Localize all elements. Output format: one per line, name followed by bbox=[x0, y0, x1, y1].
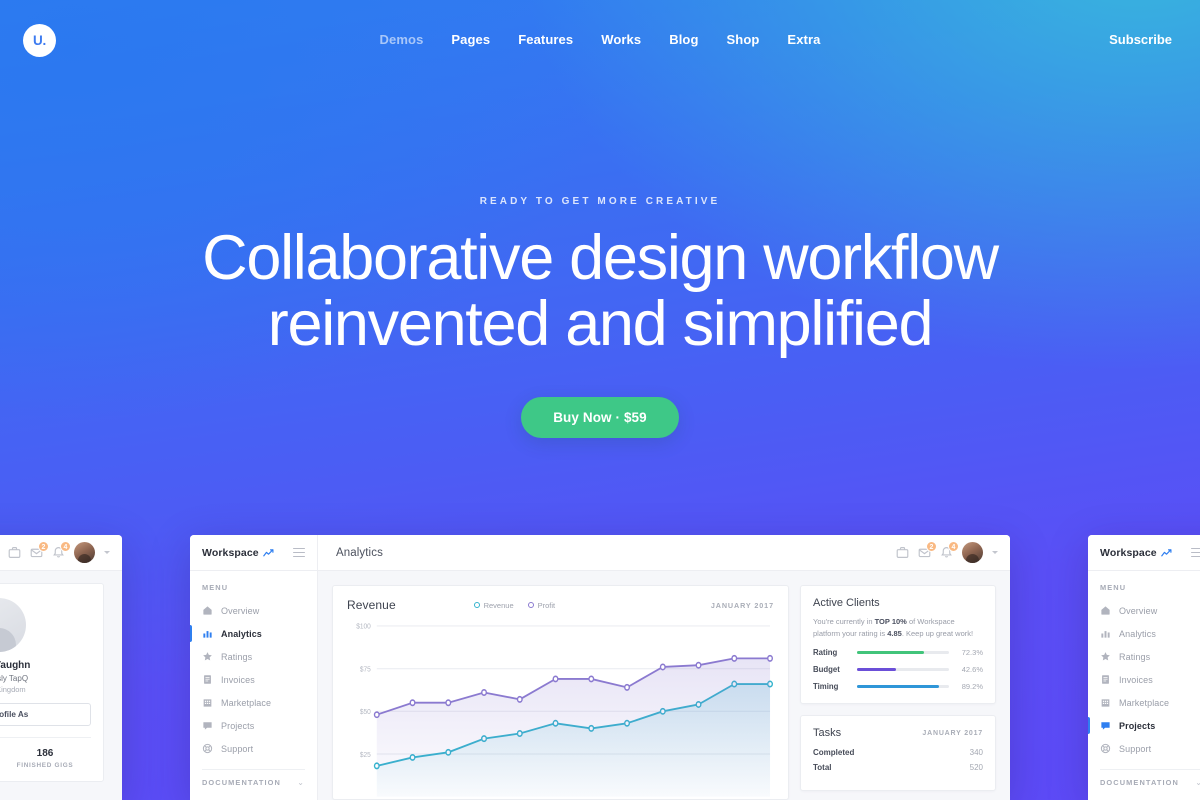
top-navbar: U. Demos Pages Features Works Blog Shop … bbox=[0, 0, 1200, 82]
metric-budget: Budget 42.6% bbox=[813, 665, 983, 674]
right-body: MENU Overview Analytics Ratings Invoices bbox=[1088, 571, 1200, 800]
left-toolbar: 2 4 bbox=[8, 542, 122, 563]
metric-track bbox=[857, 651, 949, 654]
nav-item-shop[interactable]: Shop bbox=[727, 32, 760, 47]
hamburger-icon[interactable] bbox=[293, 548, 305, 557]
hamburger-icon[interactable] bbox=[1191, 548, 1200, 557]
briefcase-icon[interactable] bbox=[8, 546, 21, 559]
sidebar-section-label: DOCUMENTATION bbox=[202, 778, 281, 787]
legend-item-revenue[interactable]: Revenue bbox=[474, 601, 514, 610]
bar-chart-icon bbox=[202, 628, 213, 639]
chevron-down-icon: ⌄ bbox=[1195, 778, 1200, 787]
desc-suffix: . Keep up great work! bbox=[902, 629, 973, 638]
sidebar-item-invoices[interactable]: Invoices bbox=[1088, 668, 1200, 691]
metric-track bbox=[857, 668, 949, 671]
left-topbar: 2 4 bbox=[0, 535, 122, 571]
right-sidebar: MENU Overview Analytics Ratings Invoices bbox=[1088, 571, 1200, 800]
dashboard-card-right: Workspace MENU Overview Analytics bbox=[1088, 535, 1200, 800]
metric-value: 72.3% bbox=[949, 648, 983, 657]
svg-text:$75: $75 bbox=[360, 665, 371, 674]
bell-icon[interactable]: 4 bbox=[940, 546, 953, 559]
revenue-chart: $25$50$75$100 bbox=[347, 619, 774, 799]
chevron-down-icon: ⌄ bbox=[297, 778, 305, 787]
desc-bold-top: TOP 10% bbox=[875, 617, 907, 626]
nav-item-works[interactable]: Works bbox=[601, 32, 641, 47]
invoice-icon bbox=[1100, 674, 1111, 685]
lifebuoy-icon bbox=[1100, 743, 1111, 754]
svg-text:$25: $25 bbox=[360, 750, 371, 759]
mail-icon[interactable]: 2 bbox=[30, 546, 43, 559]
bar-chart-icon bbox=[1100, 628, 1111, 639]
legend-label: Profit bbox=[538, 601, 556, 610]
subscribe-link[interactable]: Subscribe bbox=[1109, 32, 1172, 47]
sidebar-item-analytics[interactable]: Analytics bbox=[1088, 622, 1200, 645]
profile-name: John Vaughn bbox=[0, 660, 91, 671]
sidebar-item-support[interactable]: Support bbox=[1088, 737, 1200, 760]
sidebar-divider bbox=[202, 769, 305, 770]
active-clients-panel: Active Clients You're currently in TOP 1… bbox=[800, 585, 996, 704]
hero-section: READY TO GET MORE CREATIVE Collaborative… bbox=[0, 196, 1200, 438]
sidebar-item-marketplace[interactable]: Marketplace bbox=[190, 691, 317, 714]
metric-value: 42.6% bbox=[949, 665, 983, 674]
metric-timing: Timing 89.2% bbox=[813, 682, 983, 691]
dashboard-page-title: Analytics bbox=[318, 547, 383, 559]
sidebar-section-documentation[interactable]: DOCUMENTATION ⌄ bbox=[190, 778, 317, 787]
sidebar-item-label: Overview bbox=[1119, 606, 1157, 616]
task-row-total: Total 520 bbox=[813, 763, 983, 772]
page-root: U. Demos Pages Features Works Blog Shop … bbox=[0, 0, 1200, 800]
task-label: Total bbox=[813, 763, 832, 772]
legend-dot-icon bbox=[474, 602, 480, 608]
dashboard-body: MENU Overview Analytics Ratings Invoices bbox=[190, 571, 1010, 800]
sidebar-item-projects[interactable]: Projects bbox=[1088, 714, 1200, 737]
sidebar-item-analytics[interactable]: Analytics bbox=[190, 622, 317, 645]
dashboard-card-left: 2 4 John Vaughn Previously TapQ United K… bbox=[0, 535, 122, 800]
revenue-header: Revenue Revenue Profit JANUARY 2017 bbox=[347, 598, 774, 612]
home-icon bbox=[1100, 605, 1111, 616]
dashboard-right-column: Active Clients You're currently in TOP 1… bbox=[800, 585, 996, 800]
home-icon bbox=[202, 605, 213, 616]
nav-item-demos[interactable]: Demos bbox=[380, 32, 424, 47]
tasks-panel: Tasks JANUARY 2017 Completed 340 Total 5… bbox=[800, 715, 996, 791]
profile-stats: 4 CLIENTS 186 FINISHED GIGS bbox=[0, 737, 91, 769]
active-clients-description: You're currently in TOP 10% of Workspace… bbox=[813, 616, 983, 639]
workspace-brand[interactable]: Workspace bbox=[202, 547, 274, 559]
bell-icon[interactable]: 4 bbox=[52, 546, 65, 559]
task-value: 340 bbox=[970, 748, 983, 757]
nav-item-features[interactable]: Features bbox=[518, 32, 573, 47]
metric-fill bbox=[857, 651, 924, 654]
bell-badge: 4 bbox=[60, 541, 71, 552]
dashboard-sidebar: MENU Overview Analytics Ratings Invoices bbox=[190, 571, 318, 800]
star-icon bbox=[1100, 651, 1111, 662]
workspace-brand[interactable]: Workspace bbox=[1100, 547, 1172, 559]
page-title: Collaborative design workflow reinvented… bbox=[0, 226, 1200, 357]
metric-label: Rating bbox=[813, 648, 857, 657]
mail-badge: 2 bbox=[38, 541, 49, 552]
sidebar-item-label: Projects bbox=[1119, 721, 1155, 731]
svg-text:$100: $100 bbox=[356, 622, 371, 631]
chart-legend: Revenue Profit bbox=[474, 601, 556, 610]
hero-eyebrow: READY TO GET MORE CREATIVE bbox=[0, 196, 1200, 207]
dashboard-card-center: Workspace Analytics 2 4 bbox=[190, 535, 1010, 800]
avatar[interactable] bbox=[74, 542, 95, 563]
sidebar-item-invoices[interactable]: Invoices bbox=[190, 668, 317, 691]
headline-line-2: reinvented and simplified bbox=[0, 292, 1200, 358]
legend-dot-icon bbox=[528, 602, 534, 608]
metric-label: Budget bbox=[813, 665, 857, 674]
dashboard-main: Revenue Revenue Profit JANUARY 2017 bbox=[318, 571, 1010, 800]
brand-label: Workspace bbox=[202, 547, 259, 559]
profile-location: United Kingdom bbox=[0, 685, 91, 694]
view-profile-as-button[interactable]: View Profile As bbox=[0, 703, 91, 726]
sidebar-divider bbox=[1100, 769, 1200, 770]
task-row-completed: Completed 340 bbox=[813, 748, 983, 757]
sidebar-item-label: Ratings bbox=[1119, 652, 1150, 662]
legend-item-profit[interactable]: Profit bbox=[528, 601, 556, 610]
revenue-title: Revenue bbox=[347, 598, 396, 612]
sidebar-item-label: Invoices bbox=[221, 675, 255, 685]
tasks-date: JANUARY 2017 bbox=[922, 730, 983, 737]
metric-fill bbox=[857, 685, 939, 688]
primary-nav: Demos Pages Features Works Blog Shop Ext… bbox=[0, 32, 1200, 47]
sidebar-section-menu: MENU bbox=[190, 583, 317, 592]
sidebar-item-label: Invoices bbox=[1119, 675, 1153, 685]
nav-item-pages[interactable]: Pages bbox=[451, 32, 490, 47]
chat-icon bbox=[1100, 720, 1111, 731]
svg-text:$50: $50 bbox=[360, 708, 371, 717]
nav-item-blog[interactable]: Blog bbox=[669, 32, 698, 47]
revenue-panel: Revenue Revenue Profit JANUARY 2017 bbox=[332, 585, 789, 800]
left-body: John Vaughn Previously TapQ United Kingd… bbox=[0, 571, 122, 800]
desc-prefix: You're currently in bbox=[813, 617, 875, 626]
brand-cell: Workspace bbox=[1088, 535, 1200, 571]
briefcase-icon[interactable] bbox=[896, 546, 909, 559]
lifebuoy-icon bbox=[202, 743, 213, 754]
sidebar-item-label: Projects bbox=[221, 721, 254, 731]
hero-cta-wrap: Buy Now · $59 bbox=[0, 397, 1200, 438]
brand-cell: Workspace bbox=[190, 535, 318, 571]
profile-card: John Vaughn Previously TapQ United Kingd… bbox=[0, 583, 104, 782]
tasks-header: Tasks JANUARY 2017 bbox=[813, 727, 983, 739]
sidebar-item-label: Analytics bbox=[1119, 629, 1156, 639]
sidebar-item-overview[interactable]: Overview bbox=[190, 599, 317, 622]
sidebar-item-projects[interactable]: Projects bbox=[190, 714, 317, 737]
sidebar-item-label: Support bbox=[221, 744, 253, 754]
desc-bold-rating: 4.85 bbox=[887, 629, 902, 638]
sidebar-item-label: Ratings bbox=[221, 652, 252, 662]
metric-value: 89.2% bbox=[949, 682, 983, 691]
buy-now-button[interactable]: Buy Now · $59 bbox=[521, 397, 679, 438]
sidebar-item-ratings[interactable]: Ratings bbox=[190, 645, 317, 668]
building-icon bbox=[1100, 697, 1111, 708]
nav-item-extra[interactable]: Extra bbox=[787, 32, 820, 47]
tasks-title: Tasks bbox=[813, 727, 841, 739]
metric-label: Timing bbox=[813, 682, 857, 691]
metric-rating: Rating 72.3% bbox=[813, 648, 983, 657]
sidebar-item-label: Support bbox=[1119, 744, 1151, 754]
dashboard-toolbar: 2 4 bbox=[896, 542, 1010, 563]
right-topbar: Workspace bbox=[1088, 535, 1200, 571]
revenue-date: JANUARY 2017 bbox=[711, 601, 774, 610]
stat-label: FINISHED GIGS bbox=[0, 762, 91, 769]
bell-badge: 4 bbox=[948, 541, 959, 552]
sidebar-item-marketplace[interactable]: Marketplace bbox=[1088, 691, 1200, 714]
sidebar-item-label: Analytics bbox=[221, 629, 262, 639]
active-clients-title: Active Clients bbox=[813, 597, 983, 609]
brand-label: Workspace bbox=[1100, 547, 1157, 559]
sidebar-section-menu: MENU bbox=[1088, 583, 1200, 592]
mail-icon[interactable]: 2 bbox=[918, 546, 931, 559]
center-topbar: Workspace Analytics 2 4 bbox=[190, 535, 1010, 571]
chart-svg: $25$50$75$100 bbox=[347, 619, 774, 799]
sidebar-item-label: Overview bbox=[221, 606, 259, 616]
trending-up-icon bbox=[1161, 549, 1172, 557]
metric-fill bbox=[857, 668, 896, 671]
metric-track bbox=[857, 685, 949, 688]
chevron-down-icon[interactable] bbox=[992, 551, 998, 554]
profile-role: Previously TapQ bbox=[0, 674, 91, 683]
avatar[interactable] bbox=[962, 542, 983, 563]
trending-up-icon bbox=[263, 549, 274, 557]
legend-label: Revenue bbox=[484, 601, 514, 610]
sidebar-item-label: Marketplace bbox=[221, 698, 271, 708]
sidebar-section-label: DOCUMENTATION bbox=[1100, 778, 1179, 787]
task-label: Completed bbox=[813, 748, 854, 757]
profile-avatar bbox=[0, 598, 26, 652]
invoice-icon bbox=[202, 674, 213, 685]
sidebar-item-overview[interactable]: Overview bbox=[1088, 599, 1200, 622]
task-value: 520 bbox=[970, 763, 983, 772]
headline-line-1: Collaborative design workflow bbox=[202, 223, 998, 293]
stat-value: 186 bbox=[0, 748, 91, 759]
sidebar-item-ratings[interactable]: Ratings bbox=[1088, 645, 1200, 668]
star-icon bbox=[202, 651, 213, 662]
sidebar-item-label: Marketplace bbox=[1119, 698, 1169, 708]
chevron-down-icon[interactable] bbox=[104, 551, 110, 554]
profile-stat-gigs: 186 FINISHED GIGS bbox=[0, 748, 91, 769]
building-icon bbox=[202, 697, 213, 708]
sidebar-section-documentation[interactable]: DOCUMENTATION ⌄ bbox=[1088, 778, 1200, 787]
profile-main-panel: John Vaughn Previously TapQ United Kingd… bbox=[0, 571, 122, 800]
mail-badge: 2 bbox=[926, 541, 937, 552]
sidebar-item-support[interactable]: Support bbox=[190, 737, 317, 760]
chat-icon bbox=[202, 720, 213, 731]
